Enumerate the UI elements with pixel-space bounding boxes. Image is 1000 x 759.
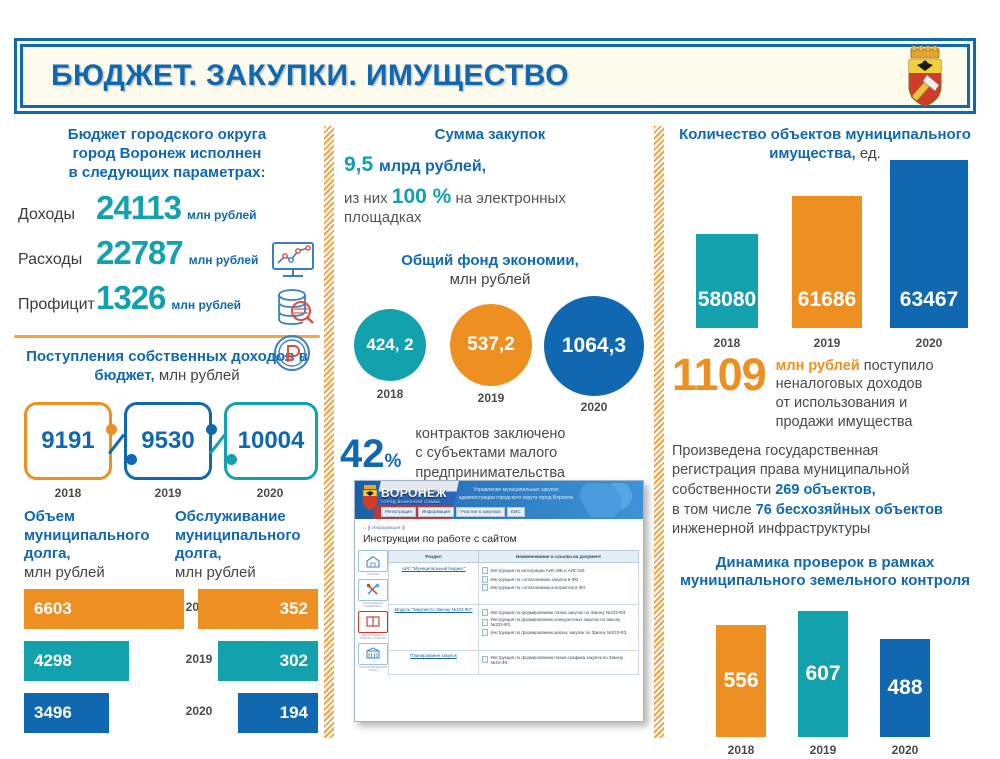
screenshot-site-header: ВОРОНЕЖ ГОРОД ВОИНСКОЙ СЛАВЫ Управление …: [355, 481, 643, 519]
doc-line[interactable]: Инструкция по согласованию контрактов в …: [482, 584, 635, 591]
rail-caption-instructions: ИНСТРУКЦИИ ПО РАБОТЕ С САЙТОМ: [358, 635, 388, 641]
doc-label: Инструкция по формированию конкурентных …: [491, 617, 636, 627]
document-icon: [482, 584, 488, 591]
rail-item-home[interactable]: [358, 550, 388, 572]
doc-label: Инструкция по интеграции АИС МБ и АИС МЗ: [491, 568, 585, 573]
electronic-value: 100 %: [392, 185, 452, 208]
inspections-bar-2018: 556: [716, 625, 766, 737]
electronic-prefix: из них: [344, 190, 388, 207]
registration-ownerless-count: 76 бесхозяйных объектов: [756, 502, 943, 518]
own-revenue-dot-2020-start: [226, 454, 237, 465]
debt-year-2019: 2019: [179, 652, 219, 666]
registration-text: Произведена государственная регистрация …: [672, 442, 978, 540]
middle-column: Сумма закупок 9,5 млрд рублей, из них 10…: [340, 122, 640, 742]
infographic-page: БЮДЖЕТ. ЗАКУПКИ. ИМУЩЕСТВО: [0, 0, 1000, 749]
debt-service-title-unit: млн рублей: [175, 564, 320, 583]
inspections-chart: 556 607 488 2018 2019 2020: [672, 599, 978, 759]
sme-description: контрактов заключено с субъектами малого…: [415, 425, 565, 482]
sme-text-line-2: с субъектами малого: [415, 444, 565, 463]
header-inner: БЮДЖЕТ. ЗАКУПКИ. ИМУЩЕСТВО: [20, 44, 970, 108]
debt-row-2018: 6603 2018 352: [14, 589, 320, 631]
objects-year-2020: 2020: [890, 336, 968, 350]
table-row: Планирование закупок Инструкция по форми…: [389, 650, 639, 674]
own-revenue-box-2019: 9530: [124, 402, 212, 480]
archive-icon: [366, 647, 380, 660]
rail-item-instructions[interactable]: [358, 611, 388, 633]
debt-section: Объем муниципального долга, млн рублей О…: [14, 508, 320, 735]
nontax-line-4: продажи имущества: [776, 413, 934, 432]
screenshot-header-line-2: администрации городского округа город Во…: [451, 495, 581, 503]
objects-title: Количество объектов муниципального имуще…: [672, 126, 978, 164]
own-revenue-year-2019: 2019: [124, 486, 212, 500]
doc-label: Инструкция по формированию плана-графика…: [491, 655, 636, 665]
home-icon: [366, 555, 380, 568]
electronic-share-row: из них 100 % на электронных площадках: [344, 185, 640, 226]
region-map-graphic: [573, 483, 639, 517]
rail-caption-home: ГЛАВНАЯ: [358, 574, 388, 577]
registration-line-5: инженерной инфраструктуры: [672, 520, 978, 540]
left-column: Бюджет городского округа город Воронеж и…: [14, 122, 320, 742]
screenshot-side-rail: ГЛАВНАЯ ТЕХНИЧЕСКАЯ ПОДДЕРЖКА: [358, 550, 388, 675]
page-title: БЮДЖЕТ. ЗАКУПКИ. ИМУЩЕСТВО: [51, 59, 569, 93]
doc-line[interactable]: Инструкция по формированию плана-графика…: [482, 655, 635, 665]
param-value-expense: 22787: [96, 234, 183, 272]
nav-item-eis[interactable]: ЕИС: [507, 507, 525, 517]
table-cell-section[interactable]: АИС "Муниципальный бюджет": [389, 563, 479, 605]
ruble-coin-icon: [270, 333, 316, 373]
inspections-bar-2020: 488: [880, 639, 930, 737]
registration-line-4: в том числе 76 бесхозяйных объектов: [672, 501, 978, 521]
debt-row-2019: 4298 2019 302: [14, 641, 320, 683]
screenshot-coat-of-arms-icon: [360, 484, 380, 512]
inspections-title-line-2: муниципального земельного контроля: [672, 572, 978, 591]
table-cell-section[interactable]: Планирование закупок: [389, 650, 479, 674]
own-revenue-dot-2019-start: [126, 454, 137, 465]
voronezh-coat-of-arms-icon: [897, 45, 953, 107]
own-revenue-year-2018: 2018: [24, 486, 112, 500]
budget-title-line-1: Бюджет городского округа: [14, 126, 320, 145]
screenshot-nav[interactable]: Регистрация Информация Участие в закупка…: [381, 507, 525, 517]
budget-title-line-3: в следующих параметрах:: [14, 164, 320, 183]
param-label-surplus: Профицит: [18, 296, 96, 314]
document-icon: [482, 629, 488, 636]
header-banner: БЮДЖЕТ. ЗАКУПКИ. ИМУЩЕСТВО: [14, 38, 976, 114]
document-icon: [482, 619, 488, 626]
param-value-income: 24113: [96, 189, 181, 227]
sme-row: 42% контрактов заключено с субъектами ма…: [340, 425, 640, 482]
savings-circle-2018: 424, 2: [354, 309, 426, 381]
screenshot-logo-text: ВОРОНЕЖ: [381, 486, 447, 500]
document-icon: [482, 576, 488, 583]
own-revenue-box-2018: 9191: [24, 402, 112, 480]
right-column: Количество объектов муниципального имуще…: [672, 122, 978, 742]
registration-line-3-prefix: собственности: [672, 482, 771, 498]
table-row: АИС "Муниципальный бюджет" Инструкция по…: [389, 563, 639, 605]
nontax-income-description: млн рублей поступило неналоговых доходов…: [776, 354, 934, 432]
param-value-surplus: 1326: [96, 279, 165, 317]
doc-label: Инструкция по формированию малых закупок…: [491, 630, 627, 635]
inspections-year-2018: 2018: [716, 743, 766, 757]
registration-objects-count: 269 объектов,: [775, 482, 875, 498]
debt-service-bar-2020: 194: [238, 693, 318, 733]
param-unit-expense: млн рублей: [189, 253, 259, 267]
screenshot-header-line-1: Управление муниципальных закупок: [451, 487, 581, 495]
debt-service-bar-2018: 352: [198, 589, 318, 629]
nav-item-participation[interactable]: Участие в закупках: [456, 507, 505, 517]
own-revenue-title-unit: млн рублей: [159, 367, 240, 384]
table-cell-section[interactable]: Модуль "Закупки по Закону №223-ФЗ": [389, 604, 479, 650]
registration-line-2: регистрация права муниципальной: [672, 461, 978, 481]
savings-circle-2019: 537,2: [450, 304, 532, 386]
inspections-title-line-1: Динамика проверок в рамках: [672, 554, 978, 573]
param-row-income: Доходы 24113 млн рублей: [18, 189, 320, 227]
instructions-table: Раздел Наименование и ссылка на документ…: [388, 550, 639, 675]
nontax-income-unit: млн рублей: [776, 358, 860, 374]
debt-year-2020: 2020: [179, 704, 219, 718]
registration-line-3: собственности 269 объектов,: [672, 481, 978, 501]
coins-magnifier-icon: [270, 287, 316, 327]
nontax-line-1: поступило: [864, 358, 934, 374]
doc-label: Инструкция по согласованию закупок в ФО: [491, 577, 579, 582]
table-cell-documents: Инструкция по формированию плана закупок…: [479, 604, 639, 650]
registration-line-4-prefix: в том числе: [672, 502, 752, 518]
tools-icon: [366, 583, 380, 596]
budget-title-line-2: город Воронеж исполнен: [14, 145, 320, 164]
nav-item-registration[interactable]: Регистрация: [381, 507, 416, 517]
doc-line[interactable]: Инструкция по формированию конкурентных …: [482, 617, 635, 627]
param-icon-group: [270, 241, 316, 379]
debt-volume-bar-2018: 6603: [24, 589, 184, 629]
objects-title-bold: Количество объектов муниципального имуще…: [679, 126, 971, 162]
savings-year-2018: 2018: [354, 387, 426, 401]
screenshot-logo-subtext: ГОРОД ВОИНСКОЙ СЛАВЫ: [381, 500, 447, 504]
screenshot-body: ГЛАВНАЯ ТЕХНИЧЕСКАЯ ПОДДЕРЖКА: [355, 550, 643, 675]
document-icon: [482, 656, 488, 663]
screenshot-header-text: Управление муниципальных закупок админис…: [451, 487, 581, 502]
objects-bar-2019: 61686: [792, 196, 862, 328]
doc-label: Инструкция по согласованию контрактов в …: [491, 585, 586, 590]
column-divider-2: [654, 126, 664, 738]
debt-volume-title-unit: млн рублей: [24, 564, 167, 583]
rail-item-support[interactable]: [358, 579, 388, 601]
debt-volume-bar-2019: 4298: [24, 641, 129, 681]
debt-headings: Объем муниципального долга, млн рублей О…: [14, 508, 320, 583]
objects-bar-2018: 58080: [696, 234, 758, 328]
book-icon: [366, 615, 380, 628]
own-revenue-year-2020: 2020: [226, 486, 314, 500]
nav-item-information[interactable]: Информация: [418, 507, 454, 517]
document-icon: [482, 567, 488, 574]
budget-title: Бюджет городского округа город Воронеж и…: [14, 126, 320, 182]
objects-year-2019: 2019: [792, 336, 862, 350]
debt-service-bar-2019: 302: [218, 641, 318, 681]
doc-label: Инструкция по формированию плана закупок…: [491, 610, 626, 615]
savings-title-unit: млн рублей: [340, 271, 640, 290]
purchases-amount: 9,5: [344, 153, 373, 176]
savings-year-2020: 2020: [544, 400, 644, 414]
sme-percent-block: 42%: [340, 434, 401, 474]
sme-text-line-1: контрактов заключено: [415, 425, 565, 444]
rail-caption-support: ТЕХНИЧЕСКАЯ ПОДДЕРЖКА: [358, 603, 388, 609]
column-divider-1: [324, 126, 334, 738]
table-header-row: Раздел Наименование и ссылка на документ: [389, 551, 639, 563]
debt-volume-title: Объем муниципального долга, млн рублей: [14, 508, 167, 583]
document-icon: [482, 609, 488, 616]
screenshot-page-title: Инструкции по работе с сайтом: [355, 532, 643, 550]
content-columns: Бюджет городского округа город Воронеж и…: [0, 122, 1000, 742]
table-cell-documents: Инструкция по формированию плана-графика…: [479, 650, 639, 674]
doc-line[interactable]: Инструкция по согласованию закупок в ФО: [482, 576, 635, 583]
inspections-bar-2019: 607: [798, 611, 848, 737]
savings-title-bold: Общий фонд экономии,: [340, 252, 640, 271]
doc-line[interactable]: Инструкция по формированию плана закупок…: [482, 609, 635, 616]
website-screenshot[interactable]: ВОРОНЕЖ ГОРОД ВОИНСКОЙ СЛАВЫ Управление …: [354, 480, 644, 722]
param-label-expense: Расходы: [18, 251, 96, 269]
savings-year-2019: 2019: [450, 391, 532, 405]
registration-line-1: Произведена государственная: [672, 442, 978, 462]
nontax-income-row: 1109 млн рублей поступило неналоговых до…: [672, 354, 978, 432]
nontax-line-3: от использования и: [776, 394, 934, 413]
inspections-title: Динамика проверок в рамках муниципальног…: [672, 554, 978, 592]
table-header-section: Раздел: [389, 551, 479, 563]
purchases-amount-row: 9,5 млрд рублей,: [344, 153, 640, 177]
debt-volume-bar-2020: 3496: [24, 693, 109, 733]
debt-service-title-bold: Обслуживание муниципального долга,: [175, 508, 301, 563]
objects-bar-2020: 63467: [890, 160, 968, 328]
debt-row-2020: 3496 2020 194: [14, 693, 320, 735]
sme-percent: 42: [340, 432, 385, 476]
monitor-chart-icon: [270, 241, 316, 281]
own-revenue-dot-2019-end: [206, 424, 217, 435]
screenshot-breadcrumb[interactable]: ⌂ ❯ Информация ❯: [355, 519, 643, 532]
debt-volume-title-bold: Объем муниципального долга,: [24, 508, 150, 563]
param-label-income: Доходы: [18, 206, 96, 224]
debt-service-title: Обслуживание муниципального долга, млн р…: [167, 508, 320, 583]
table-row: Модуль "Закупки по Закону №223-ФЗ" Инстр…: [389, 604, 639, 650]
doc-line[interactable]: Инструкция по формированию малых закупок…: [482, 629, 635, 636]
nontax-income-value: 1109: [672, 354, 766, 397]
objects-title-unit: ед.: [860, 145, 881, 162]
screenshot-site-logo: ВОРОНЕЖ ГОРОД ВОИНСКОЙ СЛАВЫ: [381, 486, 447, 504]
param-unit-surplus: млн рублей: [171, 298, 241, 312]
doc-line[interactable]: Инструкция по интеграции АИС МБ и АИС МЗ: [482, 567, 635, 574]
savings-circle-2020: 1064,3: [544, 296, 644, 396]
purchases-unit: млрд рублей,: [379, 158, 486, 175]
savings-title: Общий фонд экономии, млн рублей: [340, 252, 640, 290]
objects-chart: 58080 61686 63467 2018 2019 2020: [672, 174, 978, 350]
sme-percent-sign: %: [385, 451, 402, 472]
own-revenue-chart: 9191 9530 10004 2018 2019 2020: [14, 392, 320, 504]
rail-caption-authorized-body: УПОЛНОМОЧЕННЫЙ ОРГАН: [358, 667, 388, 673]
inspections-year-2019: 2019: [798, 743, 848, 757]
purchases-title: Сумма закупок: [340, 126, 640, 145]
nontax-line-2: неналоговых доходов: [776, 375, 934, 394]
rail-item-authorized-body[interactable]: [358, 643, 388, 665]
table-header-document: Наименование и ссылка на документ: [479, 551, 639, 563]
param-unit-income: млн рублей: [187, 208, 257, 222]
inspections-year-2020: 2020: [880, 743, 930, 757]
own-revenue-box-2020: 10004: [224, 402, 318, 480]
table-cell-documents: Инструкция по интеграции АИС МБ и АИС МЗ…: [479, 563, 639, 605]
own-revenue-dot-2018: [106, 424, 117, 435]
savings-chart: 424, 2 537,2 1064,3 2018 2019 2020: [340, 295, 640, 403]
objects-year-2018: 2018: [696, 336, 758, 350]
